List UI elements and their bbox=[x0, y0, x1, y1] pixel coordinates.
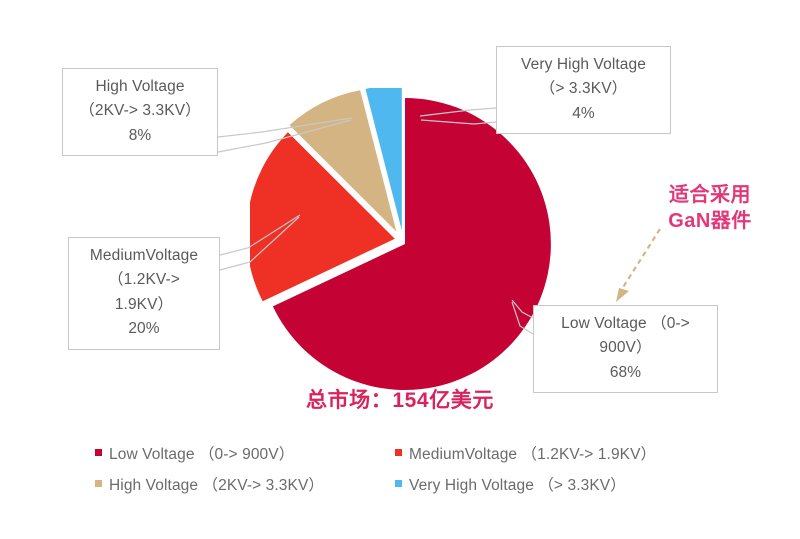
pie-chart-graphic bbox=[250, 88, 560, 400]
pie-chart-figure: High Voltage （2KV-> 3.3KV） 8% Very High … bbox=[0, 0, 800, 539]
callout-very-high-voltage-line2: （> 3.3KV） bbox=[505, 77, 662, 101]
callout-very-high-voltage-percent: 4% bbox=[505, 102, 662, 126]
gan-annotation-arrowhead-icon bbox=[616, 288, 629, 302]
callout-high-voltage-line2: （2KV-> 3.3KV） bbox=[71, 99, 209, 123]
callout-very-high-voltage[interactable]: Very High Voltage （> 3.3KV） 4% bbox=[496, 46, 671, 134]
callout-low-voltage-percent: 68% bbox=[542, 361, 709, 385]
legend-swatch-very-high-voltage-icon bbox=[395, 480, 402, 487]
callout-low-voltage-line2: 900V） bbox=[542, 336, 709, 360]
gan-annotation-line2: GaN器件 bbox=[645, 208, 775, 234]
gan-suitability-annotation: 适合采用 GaN器件 bbox=[645, 182, 775, 235]
gan-annotation-dashed-line bbox=[620, 229, 660, 292]
gan-annotation-line1: 适合采用 bbox=[645, 182, 775, 208]
legend-label-very-high-voltage: Very High Voltage （> 3.3KV） bbox=[409, 473, 626, 495]
legend-item-very-high-voltage[interactable]: Very High Voltage （> 3.3KV） bbox=[395, 473, 715, 495]
callout-low-voltage[interactable]: Low Voltage （0-> 900V） 68% bbox=[533, 305, 718, 393]
legend-swatch-high-voltage-icon bbox=[95, 480, 102, 487]
callout-medium-voltage-line1: MediumVoltage bbox=[77, 244, 211, 268]
legend-label-low-voltage: Low Voltage （0-> 900V） bbox=[109, 442, 294, 464]
callout-medium-voltage-line3: 1.9KV） bbox=[77, 293, 211, 317]
callout-high-voltage[interactable]: High Voltage （2KV-> 3.3KV） 8% bbox=[62, 68, 218, 156]
legend-label-medium-voltage: MediumVoltage （1.2KV-> 1.9KV） bbox=[409, 442, 656, 464]
legend-item-medium-voltage[interactable]: MediumVoltage （1.2KV-> 1.9KV） bbox=[395, 442, 715, 464]
callout-low-voltage-line1: Low Voltage （0-> bbox=[542, 312, 709, 336]
legend-swatch-low-voltage-icon bbox=[95, 449, 102, 456]
legend-item-high-voltage[interactable]: High Voltage （2KV-> 3.3KV） bbox=[95, 473, 395, 495]
callout-very-high-voltage-line1: Very High Voltage bbox=[505, 53, 662, 77]
callout-high-voltage-line1: High Voltage bbox=[71, 75, 209, 99]
callout-medium-voltage-percent: 20% bbox=[77, 317, 211, 341]
callout-high-voltage-percent: 8% bbox=[71, 124, 209, 148]
callout-medium-voltage-line2: （1.2KV-> bbox=[77, 268, 211, 292]
legend-swatch-medium-voltage-icon bbox=[395, 449, 402, 456]
total-market-title: 总市场：154亿美元 bbox=[0, 384, 800, 414]
legend-item-low-voltage[interactable]: Low Voltage （0-> 900V） bbox=[95, 442, 395, 464]
legend-label-high-voltage: High Voltage （2KV-> 3.3KV） bbox=[109, 473, 324, 495]
callout-medium-voltage[interactable]: MediumVoltage （1.2KV-> 1.9KV） 20% bbox=[68, 237, 220, 350]
pie-svg bbox=[250, 88, 560, 400]
chart-legend: Low Voltage （0-> 900V） MediumVoltage （1.… bbox=[95, 437, 715, 499]
